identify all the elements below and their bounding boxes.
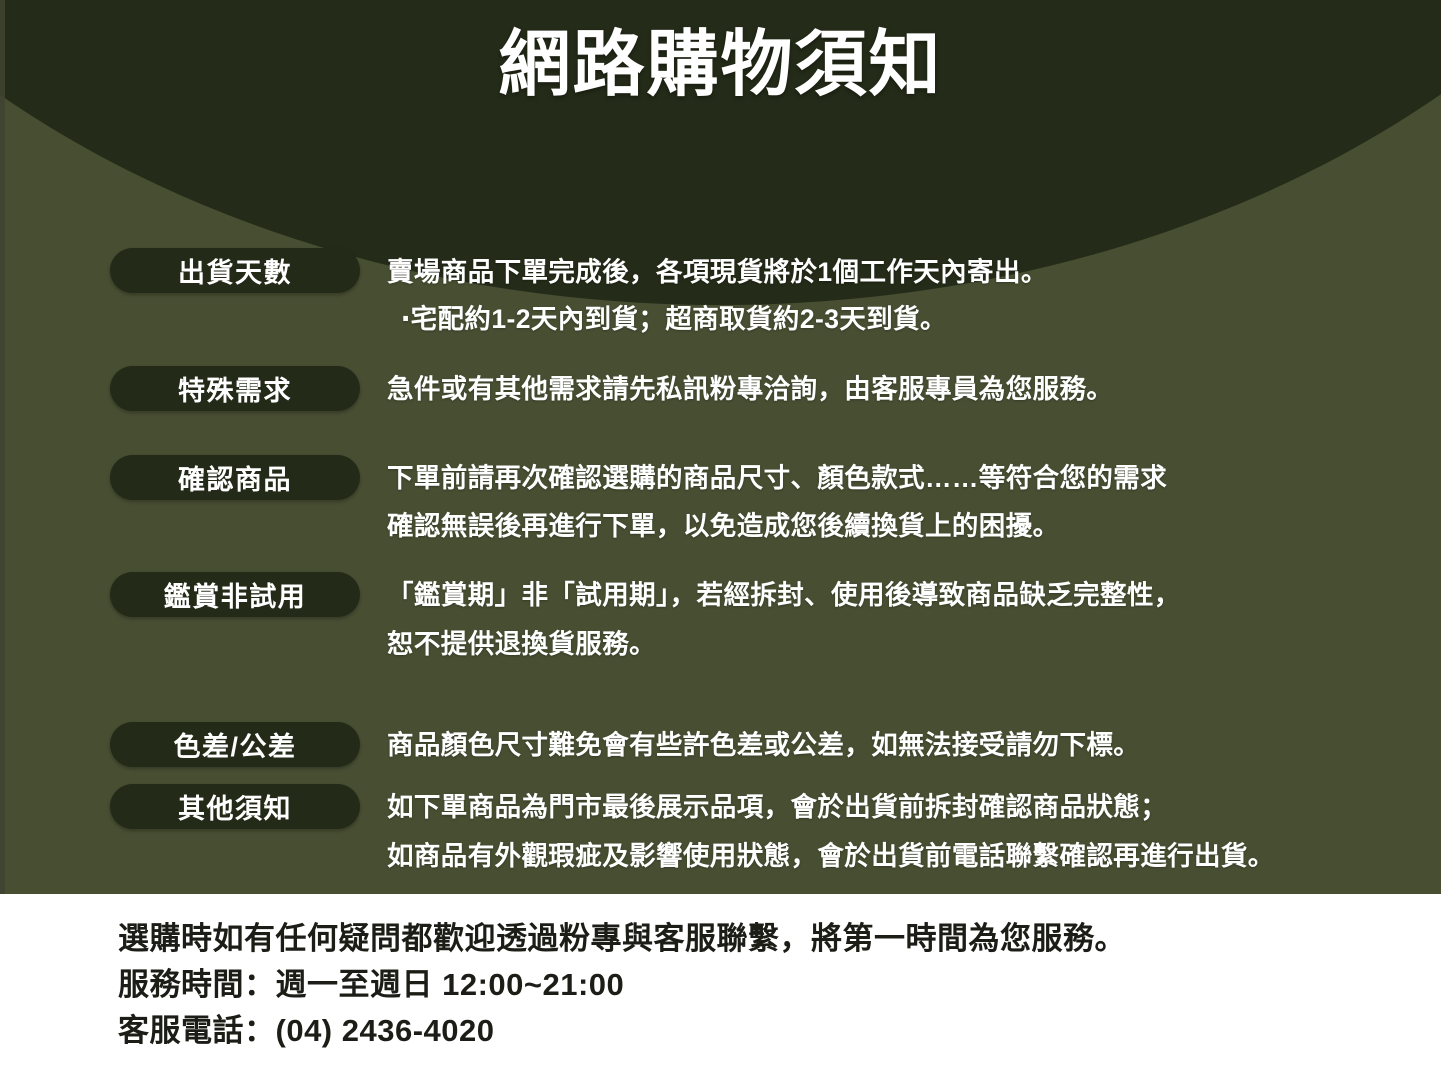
notice-row: 出貨天數 賣場商品下單完成後，各項現貨將於1個工作天內寄出。 ‧宅配約1-2天內… xyxy=(0,248,1441,343)
notice-row: 色差/公差 商品顏色尺寸難免會有些許色差或公差，如無法接受請勿下標。 xyxy=(0,722,1441,768)
body-line: 急件或有其他需求請先私訊粉專洽詢，由客服專員為您服務。 xyxy=(387,367,1441,412)
section-body-color-size-tolerance: 商品顏色尺寸難免會有些許色差或公差，如無法接受請勿下標。 xyxy=(387,722,1441,768)
notice-row: 確認商品 下單前請再次確認選購的商品尺寸、顏色款式……等符合您的需求 確認無誤後… xyxy=(0,455,1441,551)
page-title: 網路購物須知 xyxy=(0,27,1441,105)
body-line: 下單前請再次確認選購的商品尺寸、顏色款式……等符合您的需求 xyxy=(387,456,1441,501)
section-label-confirm-product: 確認商品 xyxy=(110,455,360,500)
body-line: 如商品有外觀瑕疵及影響使用狀態，會於出貨前電話聯繫確認再進行出貨。 xyxy=(387,830,1441,882)
section-body-shipping-days: 賣場商品下單完成後，各項現貨將於1個工作天內寄出。 ‧宅配約1-2天內到貨；超商… xyxy=(387,248,1441,343)
section-body-other-notes: 如下單商品為門市最後展示品項，會於出貨前拆封確認商品狀態； 如商品有外觀瑕疵及影… xyxy=(387,784,1441,882)
notice-row: 其他須知 如下單商品為門市最後展示品項，會於出貨前拆封確認商品狀態； 如商品有外… xyxy=(0,784,1441,882)
footer-line-contact-invite: 選購時如有任何疑問都歡迎透過粉專與客服聯繫，將第一時間為您服務。 xyxy=(118,916,1126,962)
body-line: 「鑑賞期」非「試用期」，若經拆封、使用後導致商品缺乏完整性， xyxy=(387,573,1441,618)
footer-line-service-hours: 服務時間：週一至週日 12:00~21:00 xyxy=(118,962,1126,1008)
body-line: 商品顏色尺寸難免會有些許色差或公差，如無法接受請勿下標。 xyxy=(387,723,1441,768)
notice-row: 特殊需求 急件或有其他需求請先私訊粉專洽詢，由客服專員為您服務。 xyxy=(0,366,1441,412)
body-line: 賣場商品下單完成後，各項現貨將於1個工作天內寄出。 xyxy=(387,249,1441,296)
section-body-inspection-not-trial: 「鑑賞期」非「試用期」，若經拆封、使用後導致商品缺乏完整性， 恕不提供退換貨服務… xyxy=(387,572,1441,670)
section-label-color-size-tolerance: 色差/公差 xyxy=(110,722,360,767)
notice-row: 鑑賞非試用 「鑑賞期」非「試用期」，若經拆封、使用後導致商品缺乏完整性， 恕不提… xyxy=(0,572,1441,670)
footer-text-block: 選購時如有任何疑問都歡迎透過粉專與客服聯繫，將第一時間為您服務。 服務時間：週一… xyxy=(118,916,1126,1054)
section-label-inspection-not-trial: 鑑賞非試用 xyxy=(110,572,360,617)
section-label-special-request: 特殊需求 xyxy=(110,366,360,411)
shopping-notice-page: 網路購物須知 出貨天數 賣場商品下單完成後，各項現貨將於1個工作天內寄出。 ‧宅… xyxy=(0,0,1441,1080)
body-line: 恕不提供退換貨服務。 xyxy=(387,618,1441,670)
body-line: 如下單商品為門市最後展示品項，會於出貨前拆封確認商品狀態； xyxy=(387,785,1441,830)
section-body-special-request: 急件或有其他需求請先私訊粉專洽詢，由客服專員為您服務。 xyxy=(387,366,1441,412)
section-label-other-notes: 其他須知 xyxy=(110,784,360,829)
body-line: ‧宅配約1-2天內到貨；超商取貨約2-3天到貨。 xyxy=(387,296,1441,343)
section-body-confirm-product: 下單前請再次確認選購的商品尺寸、顏色款式……等符合您的需求 確認無誤後再進行下單… xyxy=(387,455,1441,551)
notice-section-list: 出貨天數 賣場商品下單完成後，各項現貨將於1個工作天內寄出。 ‧宅配約1-2天內… xyxy=(0,248,1441,882)
footer-line-service-phone: 客服電話：(04) 2436-4020 xyxy=(118,1008,1126,1054)
section-label-shipping-days: 出貨天數 xyxy=(110,248,360,293)
contact-footer: 選購時如有任何疑問都歡迎透過粉專與客服聯繫，將第一時間為您服務。 服務時間：週一… xyxy=(0,894,1441,1080)
body-line: 確認無誤後再進行下單，以免造成您後續換貨上的困擾。 xyxy=(387,501,1441,551)
